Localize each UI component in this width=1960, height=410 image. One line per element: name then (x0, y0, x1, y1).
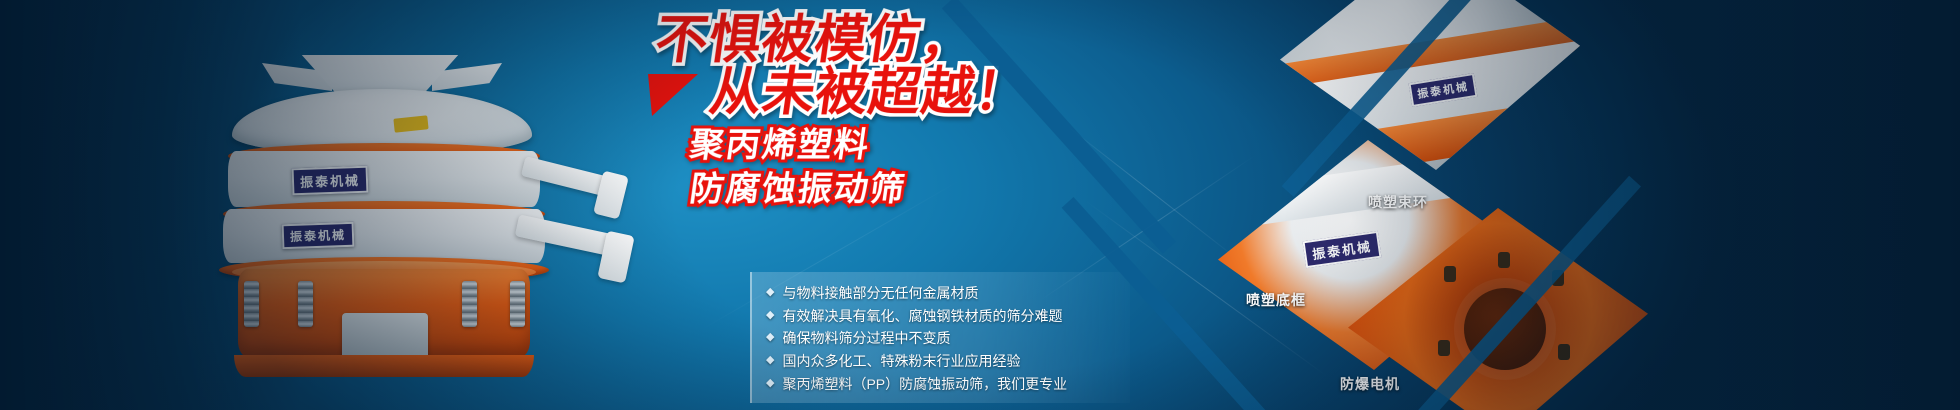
right-shadow-overlay (1620, 0, 1960, 410)
list-item-label: 国内众多化工、特殊粉末行业应用经验 (782, 350, 1020, 373)
bolt-icon (1438, 340, 1450, 356)
subheadline-line-2: 防腐蚀振动筛 (687, 168, 909, 212)
diamond-bullet-icon: ◆ (766, 327, 774, 348)
collage-caption-motor: 防爆电机 (1340, 374, 1400, 394)
diamond-bullet-icon: ◆ (766, 305, 774, 326)
spring-icon (462, 281, 477, 327)
headline-row-2: 从未被超越！ (648, 66, 1248, 118)
triangle-arrow-icon (648, 74, 698, 116)
promo-banner: 振泰机械 振泰机械 不惧被模仿， 从未被超越！ 聚丙烯塑料 防腐蚀振动筛 ◆ 与… (0, 0, 1960, 410)
screen-deck-lower (223, 209, 545, 263)
list-item-label: 确保物料筛分过程中不变质 (782, 327, 950, 350)
bolt-icon (1558, 344, 1570, 360)
list-item-label: 聚丙烯塑料（PP）防腐蚀振动筛，我们更专业 (782, 373, 1067, 396)
list-item: ◆ 国内众多化工、特殊粉末行业应用经验 (766, 350, 1130, 373)
list-item-label: 与物料接触部分无任何金属材质 (782, 282, 978, 305)
subheadline-line-1: 聚丙烯塑料 (687, 124, 909, 168)
motor-housing (342, 313, 428, 359)
base-foot (234, 355, 534, 377)
spring-icon (244, 281, 259, 327)
spring-icon (298, 281, 313, 327)
brand-label: 振泰机械 (292, 166, 369, 196)
diamond-bullet-icon: ◆ (766, 373, 774, 394)
headline-line-1: 不惧被模仿， (652, 14, 977, 66)
headline-row-1: 不惧被模仿， (648, 14, 1248, 66)
screen-deck-upper (228, 151, 540, 207)
diamond-bullet-icon: ◆ (766, 282, 774, 303)
collage-caption-clamp-ring: 喷塑束环 (1368, 192, 1428, 212)
list-item: ◆ 聚丙烯塑料（PP）防腐蚀振动筛，我们更专业 (766, 373, 1130, 396)
diamond-bullet-icon: ◆ (766, 350, 774, 371)
list-item-label: 有效解决具有氧化、腐蚀钢铁材质的筛分难题 (782, 305, 1062, 328)
feature-list: ◆ 与物料接触部分无任何金属材质 ◆ 有效解决具有氧化、腐蚀钢铁材质的筛分难题 … (750, 272, 1130, 403)
list-item: ◆ 与物料接触部分无任何金属材质 (766, 282, 1130, 305)
bolt-icon (1444, 266, 1456, 282)
product-photo-vibrating-screen: 振泰机械 振泰机械 (170, 55, 600, 400)
headline-line-2: 从未被超越！ (706, 66, 1031, 118)
subheadline: 聚丙烯塑料 防腐蚀振动筛 (690, 124, 906, 211)
spring-icon (510, 281, 525, 327)
headline: 不惧被模仿， 从未被超越！ (648, 14, 1248, 118)
collage-caption-base-frame: 喷塑底框 (1246, 290, 1306, 310)
bolt-icon (1498, 252, 1510, 268)
brand-label: 振泰机械 (282, 222, 355, 249)
list-item: ◆ 确保物料筛分过程中不变质 (766, 327, 1130, 350)
list-item: ◆ 有效解决具有氧化、腐蚀钢铁材质的筛分难题 (766, 305, 1130, 328)
